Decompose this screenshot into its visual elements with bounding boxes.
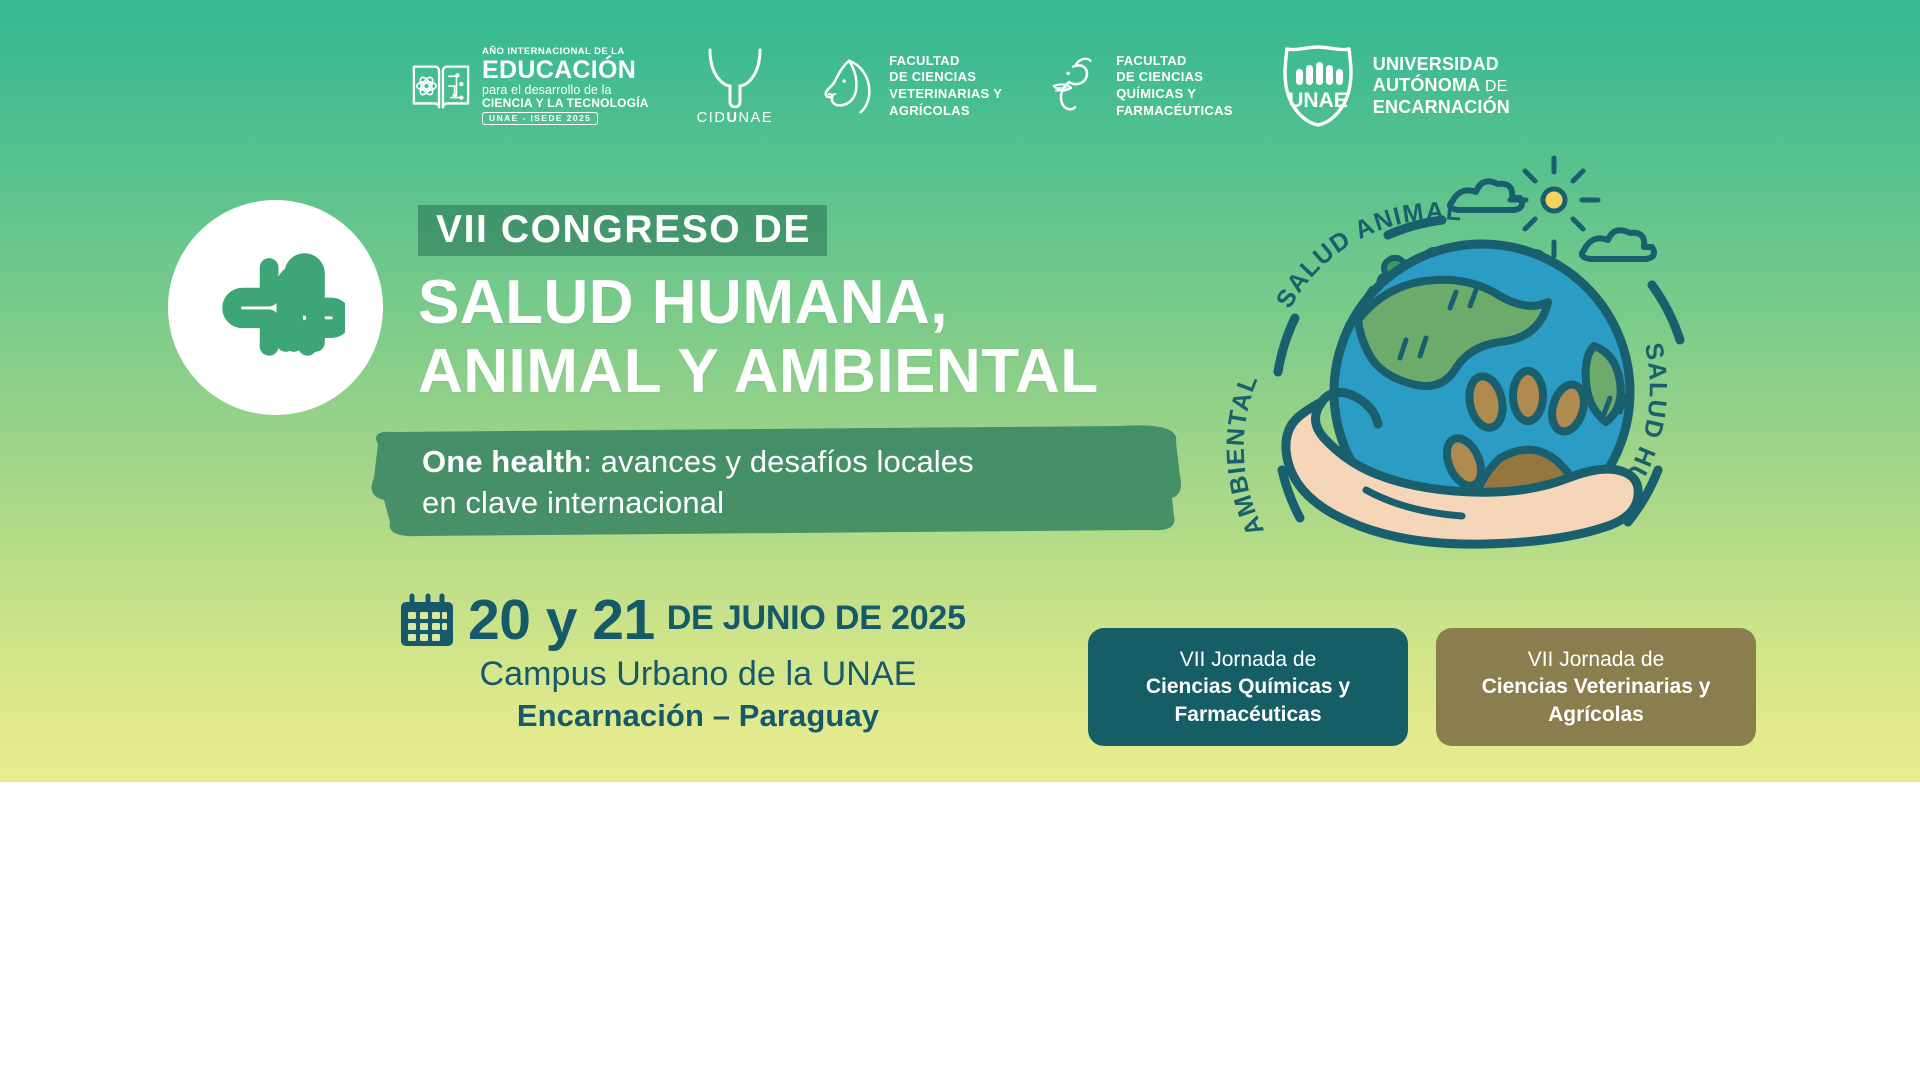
calendar-icon <box>398 593 456 649</box>
badge-quimicas-line1: VII Jornada de <box>1112 646 1384 673</box>
event-venue: Campus Urbano de la UNAE <box>398 655 998 694</box>
subtitle-text: One health: avances y desafíos locales e… <box>422 442 1142 524</box>
date-line: 20 y 21 DE JUNIO DE 2025 <box>398 592 998 649</box>
badge-quimicas[interactable]: VII Jornada de Ciencias Químicas y Farma… <box>1088 628 1408 746</box>
vet-line3: VETERINARIAS Y <box>889 86 1002 103</box>
event-days: 20 y 21 <box>468 592 655 649</box>
educacion-line4: CIENCIA Y LA TECNOLOGÍA <box>482 97 649 109</box>
qui-line3: QUÍMICAS Y <box>1116 86 1233 103</box>
educacion-line2: EDUCACIÓN <box>482 58 649 83</box>
logo-cidunae: CIDUNAE <box>697 46 773 126</box>
unae-line1: UNIVERSIDAD <box>1373 54 1510 76</box>
label-ambiental: AMBIENTAL <box>1222 370 1270 540</box>
event-city: Encarnación – Paraguay <box>398 698 998 734</box>
subtitle-bold: One health <box>422 444 583 479</box>
badge-veterinarias-line3: Agrícolas <box>1460 701 1732 728</box>
qui-line2: DE CIENCIAS <box>1116 69 1233 86</box>
event-month-year: DE JUNIO DE 2025 <box>667 599 966 642</box>
cidunae-mid: U <box>726 110 738 126</box>
congress-emblem <box>168 200 383 415</box>
subtitle-brush-banner: One health: avances y desafíos locales e… <box>360 420 1190 538</box>
footer-section: Declarado de Interés Departamental <box>0 782 1920 1080</box>
open-book-atom-circuit-icon <box>410 55 472 117</box>
logo-unae: UNAE UNIVERSIDAD AUTÓNOMA DE ENCARNACIÓN <box>1275 43 1510 129</box>
unae-line2-small: DE <box>1485 78 1508 95</box>
banner-background: AÑO INTERNACIONAL DE LA EDUCACIÓN para e… <box>0 0 1920 782</box>
event-details: 20 y 21 DE JUNIO DE 2025 Campus Urbano d… <box>398 592 998 734</box>
mortar-pestle-leaf-icon <box>1044 55 1106 117</box>
educacion-line3: para el desarrollo de la <box>482 84 649 97</box>
cidunae-label: CIDUNAE <box>697 110 773 126</box>
badge-quimicas-line2: Ciencias Químicas y <box>1112 673 1384 700</box>
qui-line1: FACULTAD <box>1116 53 1233 70</box>
unae-line3: ENCARNACIÓN <box>1373 97 1510 119</box>
logo-facultad-quimicas: FACULTAD DE CIENCIAS QUÍMICAS Y FARMACÉU… <box>1044 53 1233 120</box>
subtitle-line2: en clave internacional <box>422 483 1142 524</box>
badge-veterinarias[interactable]: VII Jornada de Ciencias Veterinarias y A… <box>1436 628 1756 746</box>
badge-veterinarias-line2: Ciencias Veterinarias y <box>1460 673 1732 700</box>
badge-quimicas-line3: Farmacéuticas <box>1112 701 1384 728</box>
congress-poster: AÑO INTERNACIONAL DE LA EDUCACIÓN para e… <box>0 0 1920 1080</box>
title-block: VII CONGRESO DE SALUD HUMANA, ANIMAL Y A… <box>418 205 1218 407</box>
jornada-badges: VII Jornada de Ciencias Químicas y Farma… <box>1088 628 1756 746</box>
unae-shield-icon: UNAE <box>1275 43 1361 129</box>
subtitle-rest: : avances y desafíos locales <box>583 444 974 479</box>
partner-logo-strip: AÑO INTERNACIONAL DE LA EDUCACIÓN para e… <box>0 36 1920 136</box>
title-line-1: SALUD HUMANA, <box>418 268 1218 337</box>
logo-educacion: AÑO INTERNACIONAL DE LA EDUCACIÓN para e… <box>410 47 649 125</box>
unae-line2: AUTÓNOMA <box>1373 75 1480 95</box>
logo-facultad-veterinarias: FACULTAD DE CIENCIAS VETERINARIAS Y AGRÍ… <box>817 53 1002 120</box>
title-line-2: ANIMAL Y AMBIENTAL <box>418 337 1218 406</box>
cidunae-pre: CID <box>697 110 727 126</box>
educacion-badge: UNAE - ISEDE 2025 <box>482 112 598 125</box>
congress-kicker: VII CONGRESO DE <box>418 205 827 256</box>
health-cross-pulse-icon <box>207 236 345 379</box>
vet-line4: AGRÍCOLAS <box>889 103 1002 120</box>
unae-shield-label: UNAE <box>1288 89 1348 112</box>
vet-line1: FACULTAD <box>889 53 1002 70</box>
cidunae-post: NAE <box>739 110 774 126</box>
cidunae-wishbone-icon <box>700 46 770 108</box>
facultad-veterinarias-text: FACULTAD DE CIENCIAS VETERINARIAS Y AGRÍ… <box>889 53 1002 120</box>
logo-educacion-text: AÑO INTERNACIONAL DE LA EDUCACIÓN para e… <box>482 47 649 125</box>
unae-text: UNIVERSIDAD AUTÓNOMA DE ENCARNACIÓN <box>1373 54 1510 119</box>
vet-line2: DE CIENCIAS <box>889 69 1002 86</box>
page-title: SALUD HUMANA, ANIMAL Y AMBIENTAL <box>418 268 1218 407</box>
one-health-illustration: SALUD ANIMAL SALUD HUMANA AMBIENTAL <box>1170 140 1750 610</box>
facultad-quimicas-text: FACULTAD DE CIENCIAS QUÍMICAS Y FARMACÉU… <box>1116 53 1233 120</box>
qui-line4: FARMACÉUTICAS <box>1116 103 1233 120</box>
badge-veterinarias-line1: VII Jornada de <box>1460 646 1732 673</box>
horse-head-icon <box>817 55 879 117</box>
